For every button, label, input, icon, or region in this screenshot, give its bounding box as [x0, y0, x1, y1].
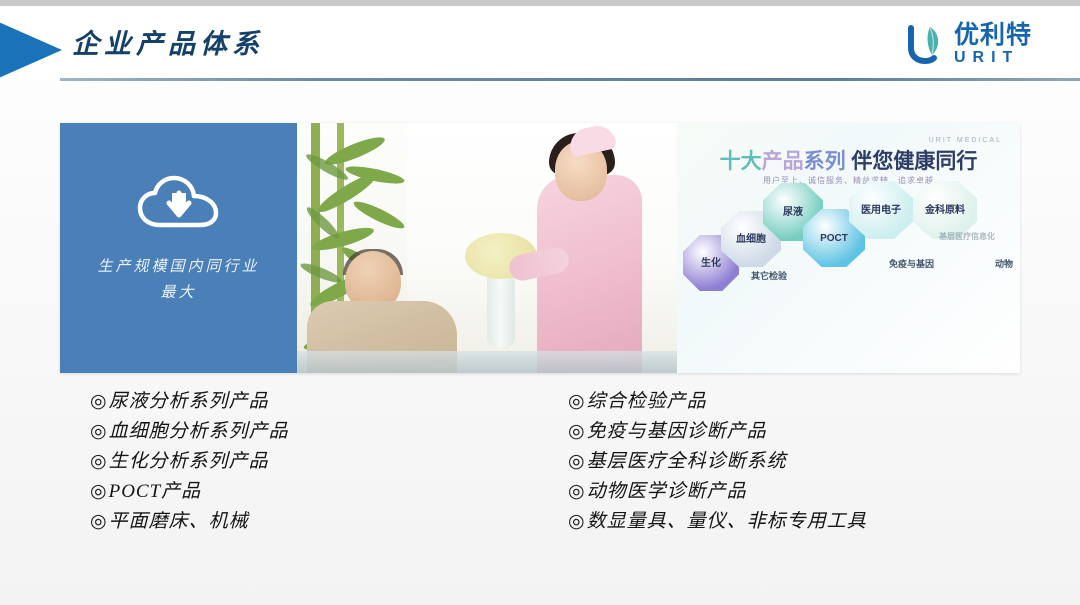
slide-header: 企业产品体系 优利特 URIT — [0, 6, 1080, 80]
page-title: 企业产品体系 — [72, 22, 264, 61]
bullet-column-right: ◎综合检验产品◎免疫与基因诊断产品◎基层医疗全科诊断系统◎动物医学诊断产品◎数显… — [568, 392, 867, 542]
nurse-elderly-photo — [297, 123, 677, 373]
bullet-item-label: 基层医疗全科诊断系统 — [587, 452, 787, 473]
headline-part-2: 产品 — [762, 150, 804, 173]
blue-caption-line2: 最大 — [60, 281, 297, 307]
bullet-item-left-5: ◎平面磨床、机械 — [90, 512, 289, 542]
bullet-marker-icon: ◎ — [568, 452, 585, 471]
bullet-item-right-1: ◎综合检验产品 — [568, 392, 867, 422]
bullet-item-label: 血细胞分析系列产品 — [109, 422, 289, 443]
hero-image-block: 生产规模国内同行业 最大 — [60, 123, 1020, 373]
bullet-item-left-1: ◎尿液分析系列产品 — [90, 392, 289, 422]
bullet-item-label: 综合检验产品 — [587, 392, 707, 413]
product-label-3: 基层医疗信息化 — [939, 231, 995, 242]
bullet-marker-icon: ◎ — [90, 422, 107, 441]
bullet-item-label: 平面磨床、机械 — [109, 512, 249, 533]
product-label-2: 免疫与基因 — [889, 257, 934, 270]
bullet-item-label: 尿液分析系列产品 — [109, 392, 269, 413]
bullet-marker-icon: ◎ — [90, 482, 107, 501]
bullet-item-label: 生化分析系列产品 — [109, 452, 269, 473]
urit-leaf-logo-icon — [904, 22, 948, 66]
slide-canvas: 企业产品体系 优利特 URIT — [0, 0, 1080, 605]
bullet-marker-icon: ◎ — [568, 422, 585, 441]
logo-text-en: URIT — [954, 50, 1032, 66]
bullet-marker-icon: ◎ — [90, 452, 107, 471]
headline-part-4: 伴您健康同行 — [846, 150, 978, 173]
bullet-item-label: POCT产品 — [109, 482, 202, 503]
brand-logo: 优利特 URIT — [904, 22, 1032, 66]
infographic-brand-en: URIT MEDICAL — [929, 137, 1002, 144]
glass-table — [297, 351, 677, 373]
header-divider — [60, 78, 1080, 81]
bullet-item-left-4: ◎POCT产品 — [90, 482, 289, 512]
bullet-item-right-4: ◎动物医学诊断产品 — [568, 482, 867, 512]
bullet-marker-icon: ◎ — [568, 392, 585, 411]
bullet-marker-icon: ◎ — [90, 512, 107, 531]
bullet-column-left: ◎尿液分析系列产品◎血细胞分析系列产品◎生化分析系列产品◎POCT产品◎平面磨床… — [90, 392, 289, 542]
logo-text-cn: 优利特 — [954, 23, 1032, 48]
infographic-subtitle: 用户至上、诚信服务、精益求精、追求卓越 — [685, 175, 1012, 186]
bullet-item-right-5: ◎数显量具、量仪、非标专用工具 — [568, 512, 867, 542]
bullet-item-right-3: ◎基层医疗全科诊断系统 — [568, 452, 867, 482]
product-bullet-lists: ◎尿液分析系列产品◎血细胞分析系列产品◎生化分析系列产品◎POCT产品◎平面磨床… — [60, 392, 1020, 562]
arrow-right-icon — [0, 20, 62, 80]
bullet-marker-icon: ◎ — [568, 482, 585, 501]
bullet-item-left-3: ◎生化分析系列产品 — [90, 452, 289, 482]
flower-vase — [487, 273, 515, 347]
product-system-infographic: URIT MEDICAL 十大产品系列 伴您健康同行 用户至上、诚信服务、精益求… — [677, 123, 1020, 373]
headline-part-1: 十大 — [720, 150, 762, 173]
product-label-1: 其它检验 — [751, 269, 787, 282]
blue-caption-line1: 生产规模国内同行业 — [60, 255, 297, 281]
bullet-marker-icon: ◎ — [568, 512, 585, 531]
infographic-headline: 十大产品系列 伴您健康同行 — [685, 145, 1012, 175]
bullet-item-right-2: ◎免疫与基因诊断产品 — [568, 422, 867, 452]
product-label-4: 动物 — [995, 257, 1013, 270]
bullet-item-label: 免疫与基因诊断产品 — [587, 422, 767, 443]
bullet-item-left-2: ◎血细胞分析系列产品 — [90, 422, 289, 452]
bullet-marker-icon: ◎ — [90, 392, 107, 411]
cloud-download-icon — [136, 175, 222, 231]
blue-caption-panel: 生产规模国内同行业 最大 — [60, 123, 297, 373]
blue-panel-caption: 生产规模国内同行业 最大 — [60, 255, 297, 306]
bullet-item-label: 数显量具、量仪、非标专用工具 — [587, 512, 867, 533]
headline-part-3: 系列 — [804, 150, 846, 173]
bullet-item-label: 动物医学诊断产品 — [587, 482, 747, 503]
